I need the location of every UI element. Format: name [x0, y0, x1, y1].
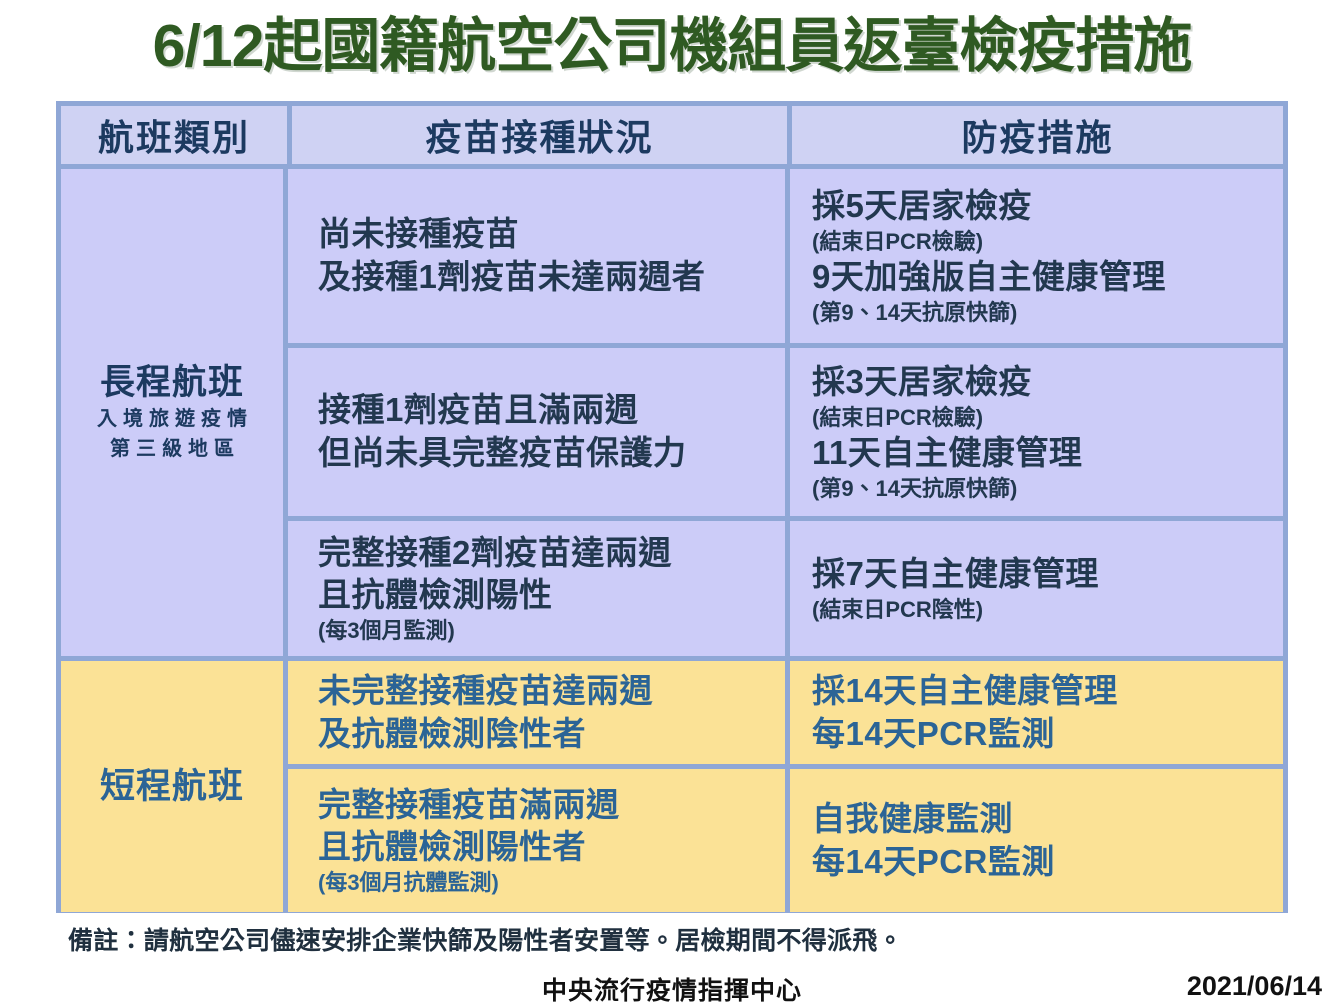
measures-cell: 採5天居家檢疫 (結束日PCR檢驗) 9天加強版自主健康管理 (第9、14天抗原… [790, 169, 1283, 343]
page-title: 6/12起國籍航空公司機組員返臺檢疫措施 [0, 16, 1344, 78]
footer-organization: 中央流行疫情指揮中心 [0, 971, 1344, 1007]
vaccination-line-2: 且抗體檢測陽性 [318, 574, 785, 617]
measure-note-1: (結束日PCR檢驗) [812, 228, 1283, 256]
category-title: 短程航班 [100, 767, 244, 806]
category-subtitle-line1: 入境旅遊疫情 [91, 406, 253, 432]
vaccination-line-1: 完整接種2劑疫苗達兩週 [318, 532, 785, 575]
vaccination-status-cell: 完整接種疫苗滿兩週 且抗體檢測陽性者 (每3個月抗體監測) [288, 769, 785, 912]
column-header-vaccination-status: 疫苗接種狀況 [292, 106, 787, 164]
measure-note-1: (結束日PCR檢驗) [812, 404, 1283, 432]
vaccination-status-cell: 未完整接種疫苗達兩週 及抗體檢測陰性者 [288, 661, 785, 764]
measure-line-1: 自我健康監測 [812, 798, 1283, 841]
table-row: 未完整接種疫苗達兩週 及抗體檢測陰性者 採14天自主健康管理 每14天PCR監測 [288, 661, 1283, 764]
measures-cell: 自我健康監測 每14天PCR監測 [790, 769, 1283, 912]
category-label-short-haul: 短程航班 [61, 661, 283, 912]
vaccination-line-1: 尚未接種疫苗 [318, 213, 785, 256]
measure-line-2: 11天自主健康管理 [812, 432, 1283, 475]
section-long-haul: 長程航班 入境旅遊疫情 第三級地區 尚未接種疫苗 及接種1劑疫苗未達兩週者 採5… [61, 169, 1283, 656]
quarantine-measures-table: 航班類別 疫苗接種狀況 防疫措施 長程航班 入境旅遊疫情 第三級地區 尚未接種疫… [56, 101, 1288, 913]
category-subtitle-line2: 第三級地區 [104, 436, 240, 462]
vaccination-note: (每3個月抗體監測) [318, 869, 785, 897]
measures-cell: 採7天自主健康管理 (結束日PCR陰性) [790, 521, 1283, 656]
column-header-measures: 防疫措施 [792, 106, 1283, 164]
long-haul-rows: 尚未接種疫苗 及接種1劑疫苗未達兩週者 採5天居家檢疫 (結束日PCR檢驗) 9… [288, 169, 1283, 656]
section-short-haul: 短程航班 未完整接種疫苗達兩週 及抗體檢測陰性者 採14天自主健康管理 每14天… [61, 661, 1283, 912]
measures-cell: 採14天自主健康管理 每14天PCR監測 [790, 661, 1283, 764]
measure-line-2: 9天加強版自主健康管理 [812, 256, 1283, 299]
measure-line-1: 採7天自主健康管理 [812, 553, 1283, 596]
measure-line-2: 每14天PCR監測 [812, 713, 1283, 756]
table-row: 完整接種2劑疫苗達兩週 且抗體檢測陽性 (每3個月監測) 採7天自主健康管理 (… [288, 521, 1283, 656]
measure-line-1: 採14天自主健康管理 [812, 670, 1283, 713]
measure-line-2: 每14天PCR監測 [812, 841, 1283, 884]
vaccination-status-cell: 尚未接種疫苗 及接種1劑疫苗未達兩週者 [288, 169, 785, 343]
measure-note-1: (結束日PCR陰性) [812, 596, 1283, 624]
measure-note-2: (第9、14天抗原快篩) [812, 299, 1283, 327]
measure-line-1: 採3天居家檢疫 [812, 361, 1283, 404]
vaccination-line-1: 接種1劑疫苗且滿兩週 [318, 389, 785, 432]
measures-cell: 採3天居家檢疫 (結束日PCR檢驗) 11天自主健康管理 (第9、14天抗原快篩… [790, 348, 1283, 516]
vaccination-line-2: 但尚未具完整疫苗保護力 [318, 432, 785, 475]
short-haul-rows: 未完整接種疫苗達兩週 及抗體檢測陰性者 採14天自主健康管理 每14天PCR監測… [288, 661, 1283, 912]
footnote-remark: 備註：請航空公司儘速安排企業快篩及陽性者安置等。居檢期間不得派飛。 [68, 921, 903, 957]
vaccination-status-cell: 完整接種2劑疫苗達兩週 且抗體檢測陽性 (每3個月監測) [288, 521, 785, 656]
vaccination-note: (每3個月監測) [318, 617, 785, 645]
column-header-flight-category: 航班類別 [61, 106, 287, 164]
vaccination-status-cell: 接種1劑疫苗且滿兩週 但尚未具完整疫苗保護力 [288, 348, 785, 516]
table-row: 尚未接種疫苗 及接種1劑疫苗未達兩週者 採5天居家檢疫 (結束日PCR檢驗) 9… [288, 169, 1283, 343]
vaccination-line-1: 完整接種疫苗滿兩週 [318, 784, 785, 827]
category-title: 長程航班 [100, 363, 244, 402]
category-label-long-haul: 長程航班 入境旅遊疫情 第三級地區 [61, 169, 283, 656]
table-row: 完整接種疫苗滿兩週 且抗體檢測陽性者 (每3個月抗體監測) 自我健康監測 每14… [288, 769, 1283, 912]
table-header-row: 航班類別 疫苗接種狀況 防疫措施 [61, 106, 1283, 164]
vaccination-line-1: 未完整接種疫苗達兩週 [318, 670, 785, 713]
vaccination-line-2: 及抗體檢測陰性者 [318, 713, 785, 756]
measure-note-2: (第9、14天抗原快篩) [812, 475, 1283, 503]
measure-line-1: 採5天居家檢疫 [812, 185, 1283, 228]
footer-bar: 中央流行疫情指揮中心 2021/06/14 [0, 971, 1344, 1008]
table-row: 接種1劑疫苗且滿兩週 但尚未具完整疫苗保護力 採3天居家檢疫 (結束日PCR檢驗… [288, 348, 1283, 516]
footer-date: 2021/06/14 [1187, 971, 1322, 1002]
vaccination-line-2: 且抗體檢測陽性者 [318, 826, 785, 869]
vaccination-line-2: 及接種1劑疫苗未達兩週者 [318, 256, 785, 299]
